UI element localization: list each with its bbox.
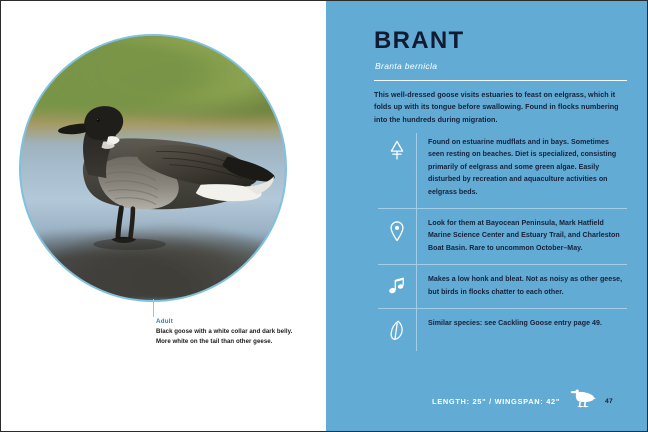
fact-column-divider <box>416 209 417 264</box>
fact-text: Similar species: see Cackling Goose entr… <box>416 318 627 330</box>
tree-icon <box>378 137 416 161</box>
fact-row-habitat: Found on estuarine mudflats and in bays.… <box>378 133 627 208</box>
right-page: BRANT Branta bernicla This well-dressed … <box>326 0 648 432</box>
fact-text: Look for them at Bayocean Peninsula, Mar… <box>416 218 627 255</box>
fact-row-similar-species: Similar species: see Cackling Goose entr… <box>378 308 627 351</box>
fact-row-where-to-find: Look for them at Bayocean Peninsula, Mar… <box>378 208 627 264</box>
goose-photo-subject <box>32 89 280 274</box>
fact-list: Found on estuarine mudflats and in bays.… <box>378 133 627 351</box>
brant-goose-photo <box>19 34 287 302</box>
photo-circle-frame <box>19 34 287 302</box>
photo-caption: Adult Black goose with a white collar an… <box>156 317 306 347</box>
fact-column-divider <box>416 309 417 351</box>
caption-title: Adult <box>156 317 306 326</box>
intro-paragraph: This well-dressed goose visits estuaries… <box>374 89 627 126</box>
fact-column-divider <box>416 133 417 208</box>
caption-body: Black goose with a white collar and dark… <box>156 327 306 347</box>
fact-text: Found on estuarine mudflats and in bays.… <box>416 137 627 199</box>
scientific-name: Branta bernicla <box>375 61 437 71</box>
goose-silhouette-icon <box>569 389 596 413</box>
page-number: 47 <box>605 398 613 405</box>
measurements: LENGTH: 25" / WINGSPAN: 42" <box>432 397 560 406</box>
title-divider <box>374 80 627 81</box>
map-pin-icon <box>378 218 416 242</box>
left-page: Adult Black goose with a white collar an… <box>0 0 326 432</box>
page-footer: LENGTH: 25" / WINGSPAN: 42" 47 <box>374 389 613 413</box>
fact-row-voice: Makes a low honk and bleat. Not as noisy… <box>378 264 627 308</box>
caption-leader-line <box>153 299 154 317</box>
right-page-content: BRANT Branta bernicla This well-dressed … <box>374 1 629 431</box>
page-title: BRANT <box>374 29 465 53</box>
feather-icon <box>378 318 416 342</box>
music-note-icon <box>378 274 416 296</box>
fact-text: Makes a low honk and bleat. Not as noisy… <box>416 274 627 299</box>
fact-column-divider <box>416 265 417 308</box>
book-spread: Adult Black goose with a white collar an… <box>0 0 648 432</box>
